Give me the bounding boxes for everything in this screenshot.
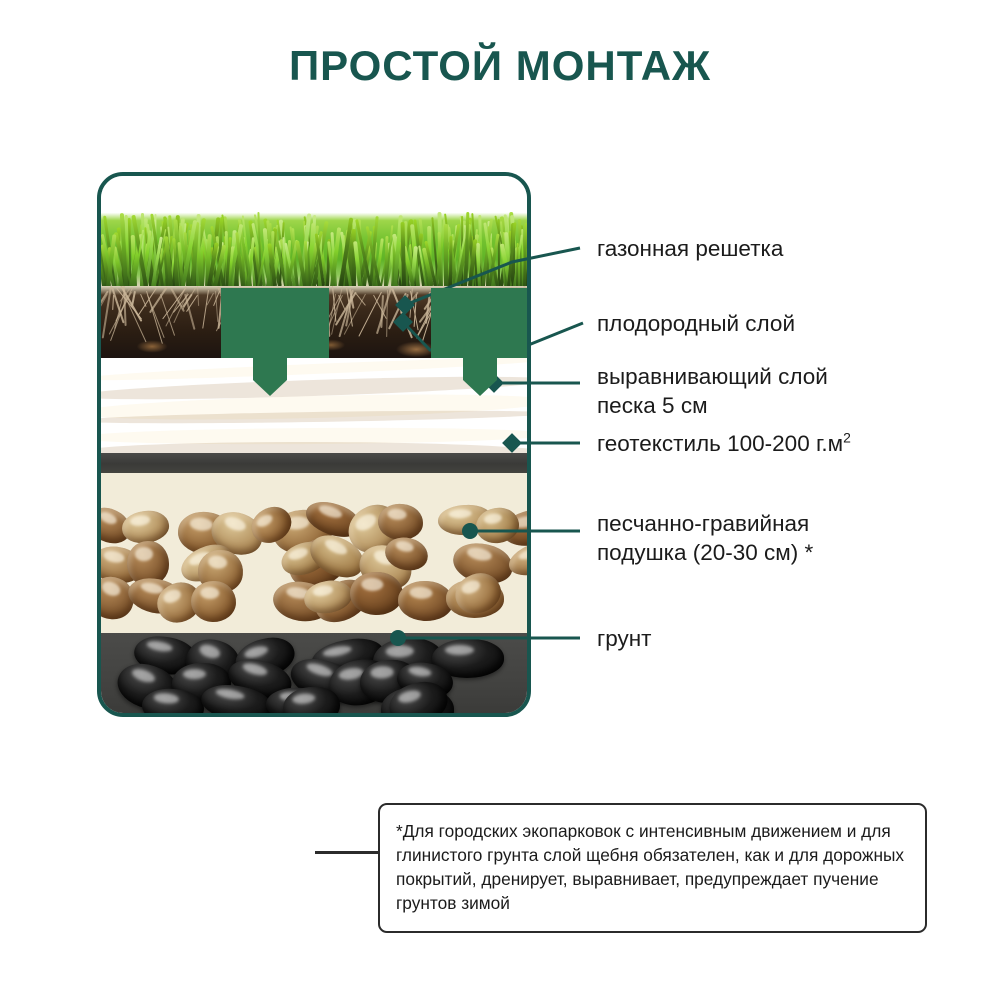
label-topsoil: плодородный слой [597, 309, 795, 338]
label-lawn-grid: газонная решетка [597, 234, 783, 263]
layer-ground [101, 633, 527, 713]
footnote-box: *Для городских экопарковок с интенсивным… [378, 803, 927, 933]
grid-module [221, 288, 329, 358]
page-title: ПРОСТОЙ МОНТАЖ [0, 42, 1000, 90]
grid-stake [253, 358, 287, 380]
layer-geotextile [101, 453, 527, 473]
label-ground: грунт [597, 624, 651, 653]
layer-stack [101, 176, 527, 713]
layer-grass [101, 208, 527, 286]
label-gravel: песчанно-гравийная подушка (20-30 см) * [597, 509, 813, 567]
layer-gravel [101, 473, 527, 633]
diagram-top-gap [101, 176, 527, 208]
label-geotextile-superscript: 2 [843, 430, 851, 446]
grid-stake [463, 358, 497, 380]
label-geotextile: геотекстиль 100-200 г.м2 [597, 429, 851, 458]
label-geotextile-text: геотекстиль 100-200 г.м [597, 431, 843, 456]
cross-section-diagram [97, 172, 531, 717]
label-sand: выравнивающий слой песка 5 см [597, 362, 828, 420]
grass-blades [101, 208, 527, 286]
footnote-connector-line [315, 851, 379, 854]
grid-module [513, 288, 531, 358]
